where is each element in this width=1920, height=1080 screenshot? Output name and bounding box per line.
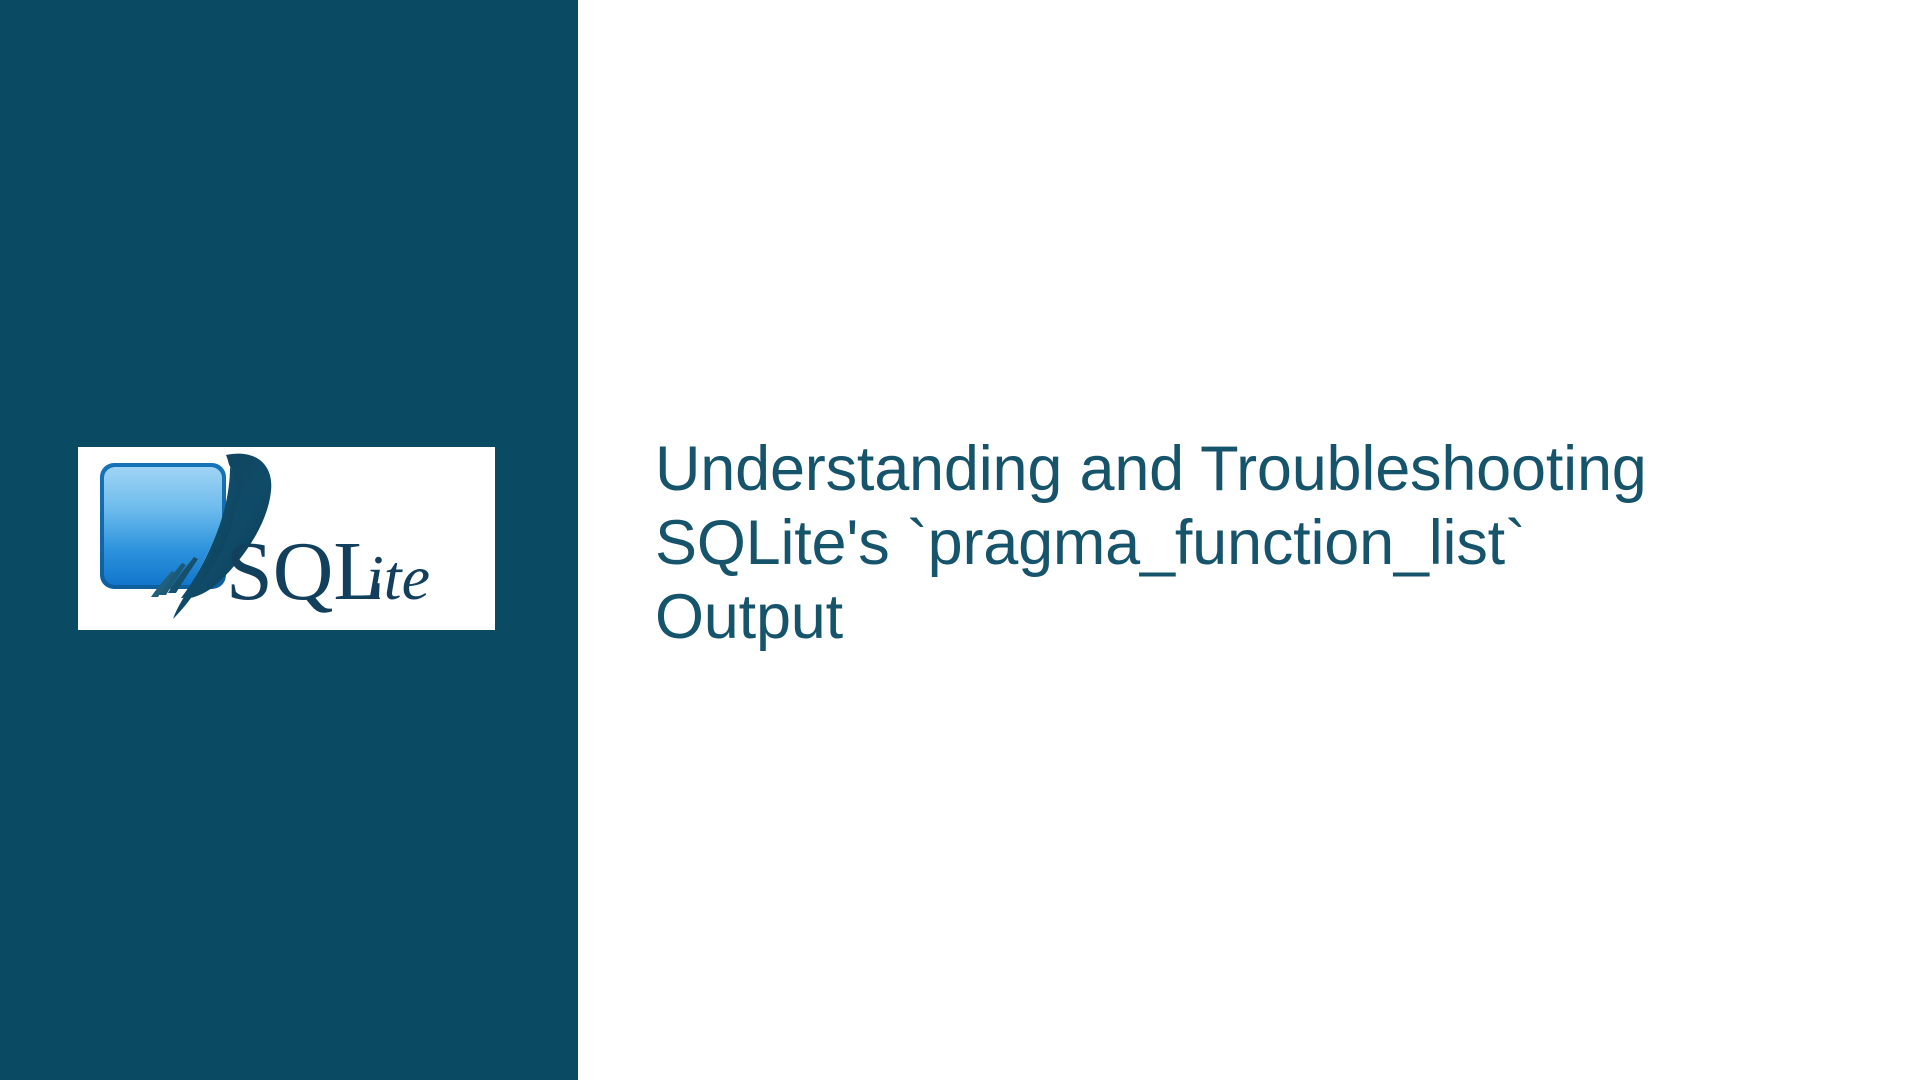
page-title: Understanding and Troubleshooting SQLite… xyxy=(655,432,1880,654)
slide-canvas: SQL ite Understanding and Troubleshootin… xyxy=(0,0,1920,1080)
title-line-1: Understanding and Troubleshooting xyxy=(655,432,1880,506)
title-line-2: SQLite's `pragma_function_list` xyxy=(655,506,1880,580)
sqlite-logo: SQL ite xyxy=(78,447,495,630)
sqlite-wordmark-suffix: ite xyxy=(366,542,430,613)
sqlite-logo-icon: SQL ite xyxy=(78,447,495,630)
sqlite-wordmark-text: SQL xyxy=(226,525,385,618)
title-line-3: Output xyxy=(655,580,1880,654)
